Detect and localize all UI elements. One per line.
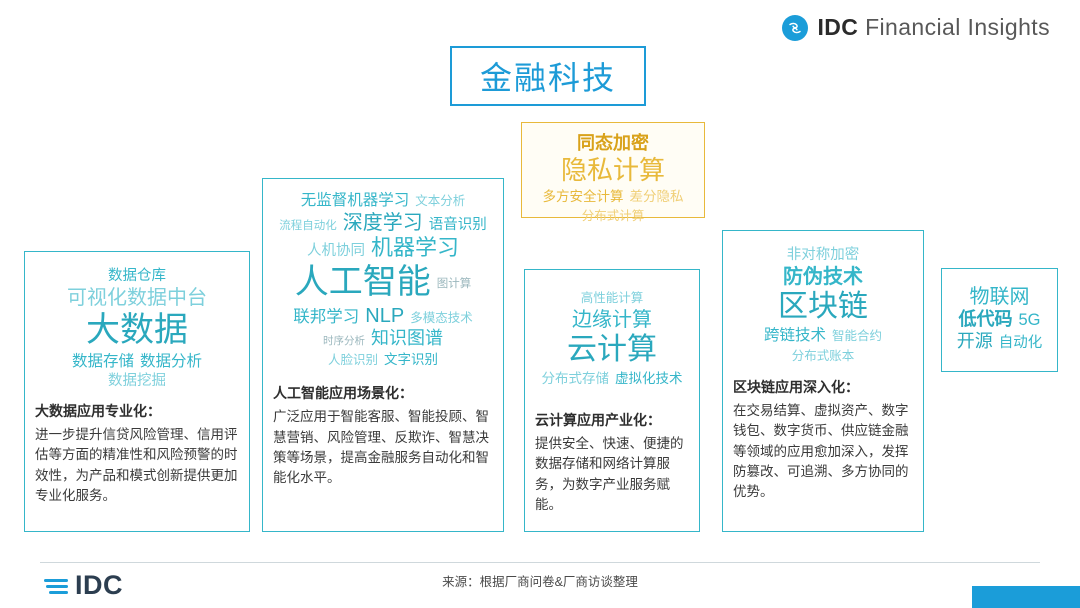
word-cloud-cloud-computing: 高性能计算 边缘计算 云计算 分布式存储虚拟化技术	[535, 278, 689, 388]
corner-accent-block	[972, 586, 1080, 608]
cloud-term: 图计算	[437, 277, 472, 291]
cloud-term: 开源	[957, 331, 993, 353]
cloud-term: 隐私计算	[561, 155, 665, 187]
cloud-term: 物联网	[970, 285, 1030, 309]
cloud-term: 虚拟化技术	[615, 371, 683, 387]
card-description-ai: 人工智能应用场景化： 广泛应用于智能客服、智能投顾、智慧营销、风险管理、反欺诈、…	[273, 383, 493, 488]
cloud-term: 分布式存储	[542, 371, 610, 387]
word-cloud-iot: 物联网 低代码5G 开源自动化	[952, 277, 1047, 353]
cloud-term: 数据存储	[72, 353, 134, 372]
idc-circle-logo-icon	[782, 15, 808, 41]
cloud-term: 语音识别	[429, 217, 487, 235]
brand-suffix-text: Financial Insights	[865, 14, 1050, 40]
cloud-term: 人脸识别	[328, 353, 378, 368]
cloud-term: 深度学习	[343, 211, 423, 235]
slide-canvas: IDC Financial Insights 金融科技 数据仓库 可视化数据中台…	[0, 0, 1080, 608]
cloud-term: 跨链技术	[764, 327, 826, 346]
cloud-term: 高性能计算	[581, 291, 644, 306]
brand-header: IDC Financial Insights	[782, 14, 1050, 41]
cloud-term: 大数据	[86, 310, 188, 351]
cloud-term: 多模态技术	[410, 311, 473, 326]
cloud-term: 数据挖掘	[108, 373, 166, 391]
footer-divider	[40, 562, 1040, 563]
cloud-term: 时序分析	[323, 335, 365, 348]
cloud-term: 流程自动化	[279, 219, 337, 233]
card-body-big-data: 进一步提升信贷风险管理、信用评估等方面的精准性和风险预警的时效性，为产品和模式创…	[35, 427, 238, 503]
card-heading-big-data: 大数据应用专业化：	[35, 401, 239, 422]
cloud-term: 数据仓库	[108, 268, 166, 286]
card-description-cloud-computing: 云计算应用产业化： 提供安全、快速、便捷的数据存储和网络计算服务，为数字产业服务…	[535, 410, 689, 515]
card-heading-cloud-computing: 云计算应用产业化：	[535, 410, 689, 431]
card-description-big-data: 大数据应用专业化： 进一步提升信贷风险管理、信用评估等方面的精准性和风险预警的时…	[35, 401, 239, 506]
cloud-term: 多方安全计算	[543, 189, 624, 205]
word-cloud-privacy: 同态加密 隐私计算 多方安全计算差分隐私 分布式计算	[532, 131, 694, 226]
word-cloud-blockchain: 非对称加密 防伪技术 区块链 跨链技术智能合约 分布式账本	[733, 239, 913, 365]
card-cloud-computing: 高性能计算 边缘计算 云计算 分布式存储虚拟化技术 云计算应用产业化： 提供安全…	[524, 269, 700, 532]
word-cloud-ai: 无监督机器学习文本分析 流程自动化深度学习语音识别 人机协同机器学习 人工智能图…	[273, 187, 493, 369]
source-note: 来源：根据厂商问卷&厂商访谈整理	[0, 571, 1080, 590]
cloud-term: 数据分析	[140, 353, 202, 372]
card-body-ai: 广泛应用于智能客服、智能投顾、智慧营销、风险管理、反欺诈、智慧决策等场景，提高金…	[273, 409, 489, 485]
cloud-term: 边缘计算	[572, 308, 652, 332]
word-cloud-big-data: 数据仓库 可视化数据中台 大数据 数据存储数据分析 数据挖掘	[35, 260, 239, 391]
page-title: 金融科技	[450, 46, 646, 106]
card-heading-blockchain: 区块链应用深入化：	[733, 377, 913, 398]
cloud-term: 分布式账本	[792, 349, 855, 364]
cloud-term: 低代码	[958, 309, 1012, 331]
cloud-term: 云计算	[567, 332, 657, 369]
cloud-term: 联邦学习	[293, 307, 359, 327]
cloud-term: 机器学习	[371, 235, 459, 262]
cloud-term: NLP	[365, 304, 404, 328]
brand-name: IDC Financial Insights	[817, 14, 1050, 41]
cloud-term: 智能合约	[832, 329, 882, 344]
card-big-data: 数据仓库 可视化数据中台 大数据 数据存储数据分析 数据挖掘 大数据应用专业化：…	[24, 251, 250, 532]
cloud-term: 非对称加密	[787, 247, 860, 265]
cloud-term: 区块链	[778, 289, 868, 326]
card-blockchain: 非对称加密 防伪技术 区块链 跨链技术智能合约 分布式账本 区块链应用深入化： …	[722, 230, 924, 532]
card-body-blockchain: 在交易结算、虚拟资产、数字钱包、数字货币、供应链金融等领域的应用愈加深入，发挥防…	[733, 403, 909, 499]
card-ai: 无监督机器学习文本分析 流程自动化深度学习语音识别 人机协同机器学习 人工智能图…	[262, 178, 504, 532]
card-iot: 物联网 低代码5G 开源自动化	[941, 268, 1058, 372]
cloud-term: 防伪技术	[783, 265, 863, 289]
card-privacy-computing: 同态加密 隐私计算 多方安全计算差分隐私 分布式计算	[521, 122, 705, 218]
cloud-term: 人工智能	[295, 262, 431, 303]
cloud-term: 同态加密	[577, 133, 649, 155]
cloud-term: 文字识别	[384, 352, 438, 368]
card-heading-ai: 人工智能应用场景化：	[273, 383, 493, 404]
cloud-term: 可视化数据中台	[67, 286, 207, 310]
cloud-term: 自动化	[999, 335, 1043, 353]
cloud-term: 文本分析	[415, 194, 465, 209]
cloud-term: 差分隐私	[630, 189, 684, 205]
card-description-blockchain: 区块链应用深入化： 在交易结算、虚拟资产、数字钱包、数字货币、供应链金融等领域的…	[733, 377, 913, 502]
card-body-cloud-computing: 提供安全、快速、便捷的数据存储和网络计算服务，为数字产业服务赋能。	[535, 436, 684, 512]
cloud-term: 5G	[1018, 310, 1040, 330]
brand-idc-text: IDC	[817, 14, 858, 40]
cloud-term: 知识图谱	[371, 328, 443, 350]
cloud-term: 无监督机器学习	[301, 192, 410, 211]
cloud-term: 分布式计算	[582, 209, 645, 224]
cloud-term: 人机协同	[307, 243, 365, 261]
